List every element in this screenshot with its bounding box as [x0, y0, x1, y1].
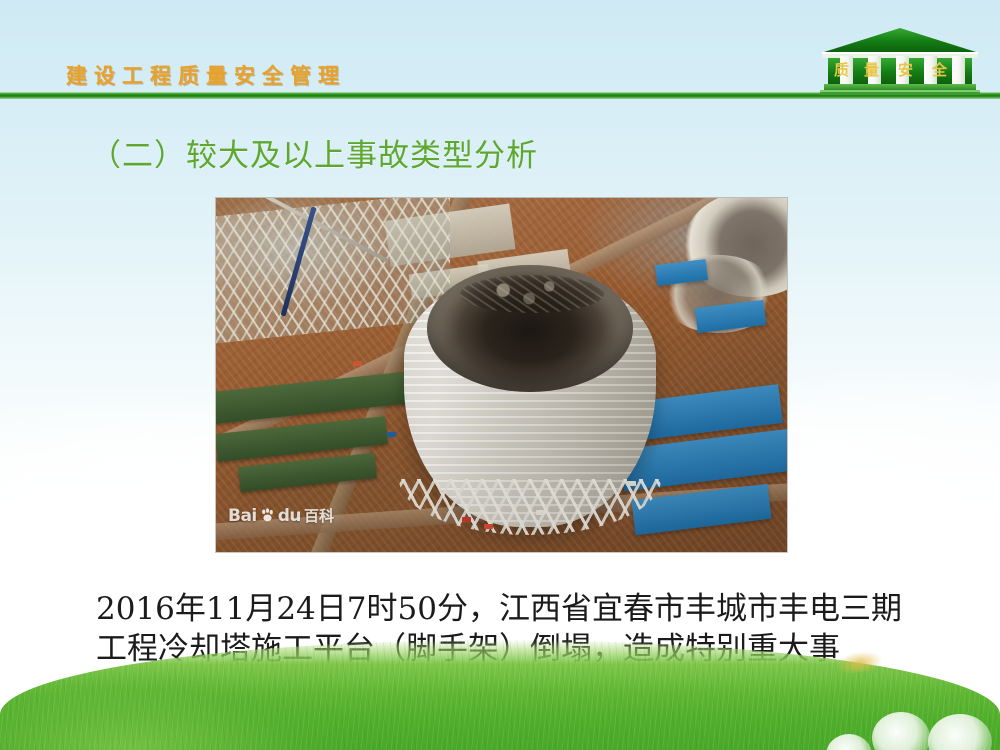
- photo-cooling-tower: [404, 272, 655, 527]
- grass-hill-highlight: [0, 642, 380, 750]
- logo-char-liang: 量: [864, 61, 879, 79]
- photo-vehicle: [353, 361, 362, 366]
- page-title: （二）较大及以上事故类型分析: [90, 130, 538, 175]
- slide-canvas: 建设工程质量安全管理: [0, 0, 1000, 750]
- watermark-bai: Bai: [228, 506, 257, 526]
- photo-vehicle: [462, 517, 471, 522]
- photo-collapsed-scaffolding-debris: [460, 275, 604, 313]
- photo-tower-support-legs: [399, 479, 660, 535]
- watermark-baike: 百科: [304, 505, 334, 526]
- accident-photo: Bai du 百科: [216, 198, 787, 552]
- paw-print-icon: [260, 508, 275, 523]
- body-line-1: 2016年11月24日7时50分，江西省宜春市丰城市丰电三期: [96, 589, 926, 629]
- quality-safety-temple-logo: 质 量 安 全: [812, 26, 988, 98]
- logo-char-zhi: 质: [834, 61, 849, 79]
- logo-char-quan: 全: [931, 61, 948, 79]
- temple-icon: 质 量 安 全: [812, 26, 988, 98]
- photo-vehicle: [387, 432, 396, 437]
- photo-vehicle: [536, 510, 545, 515]
- photo-vehicle: [484, 524, 493, 529]
- photo-tower-opening: [427, 265, 633, 392]
- photo-scene: [216, 198, 787, 552]
- watermark-du: du: [278, 506, 301, 526]
- header-title: 建设工程质量安全管理: [66, 60, 346, 90]
- baidu-baike-watermark: Bai du 百科: [228, 505, 334, 526]
- logo-char-an: 安: [898, 61, 913, 79]
- photo-vehicle: [627, 481, 636, 486]
